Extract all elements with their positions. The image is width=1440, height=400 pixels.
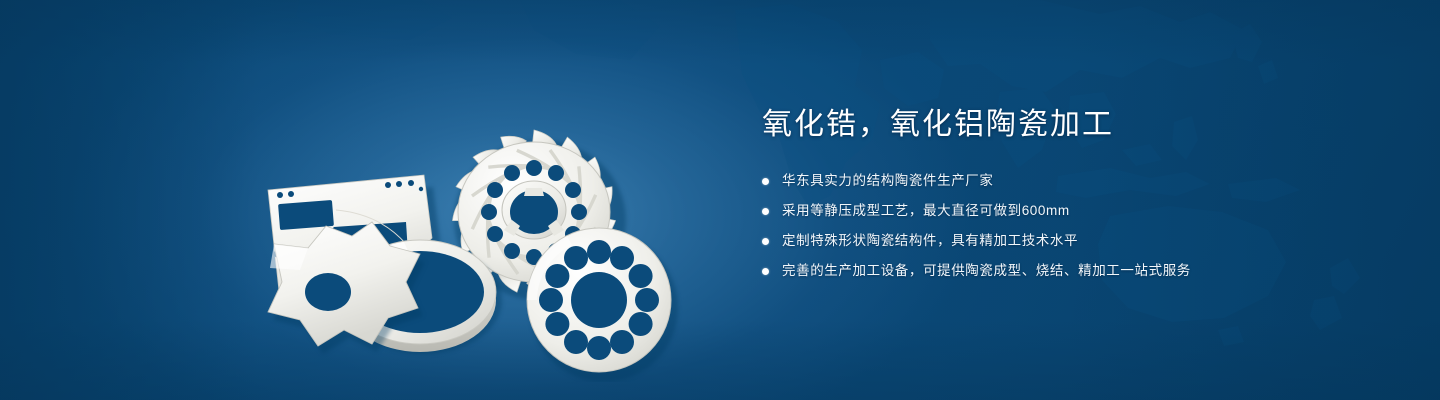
list-item: 华东具实力的结构陶瓷件生产厂家	[762, 170, 1382, 192]
bullet-dot-icon	[762, 268, 769, 275]
bullet-dot-icon	[762, 178, 769, 185]
bullet-dot-icon	[762, 238, 769, 245]
feature-text: 采用等静压成型工艺，最大直径可做到600mm	[782, 200, 1070, 222]
banner-copy: 氧化锆，氧化铝陶瓷加工 华东具实力的结构陶瓷件生产厂家 采用等静压成型工艺，最大…	[762, 104, 1382, 290]
feature-text: 定制特殊形状陶瓷结构件，具有精加工技术水平	[782, 230, 1078, 252]
ceramic-perforated-disc-part	[527, 228, 678, 382]
list-item: 定制特殊形状陶瓷结构件，具有精加工技术水平	[762, 230, 1382, 252]
hero-banner: 氧化锆，氧化铝陶瓷加工 华东具实力的结构陶瓷件生产厂家 采用等静压成型工艺，最大…	[0, 0, 1440, 400]
list-item: 完善的生产加工设备，可提供陶瓷成型、烧结、精加工一站式服务	[762, 260, 1382, 282]
bullet-dot-icon	[762, 208, 769, 215]
ceramic-products-image	[236, 42, 706, 382]
list-item: 采用等静压成型工艺，最大直径可做到600mm	[762, 200, 1382, 222]
feature-text: 完善的生产加工设备，可提供陶瓷成型、烧结、精加工一站式服务	[782, 260, 1191, 282]
page-title: 氧化锆，氧化铝陶瓷加工	[762, 104, 1382, 146]
feature-list: 华东具实力的结构陶瓷件生产厂家 采用等静压成型工艺，最大直径可做到600mm 定…	[762, 170, 1382, 282]
feature-text: 华东具实力的结构陶瓷件生产厂家	[782, 170, 994, 192]
